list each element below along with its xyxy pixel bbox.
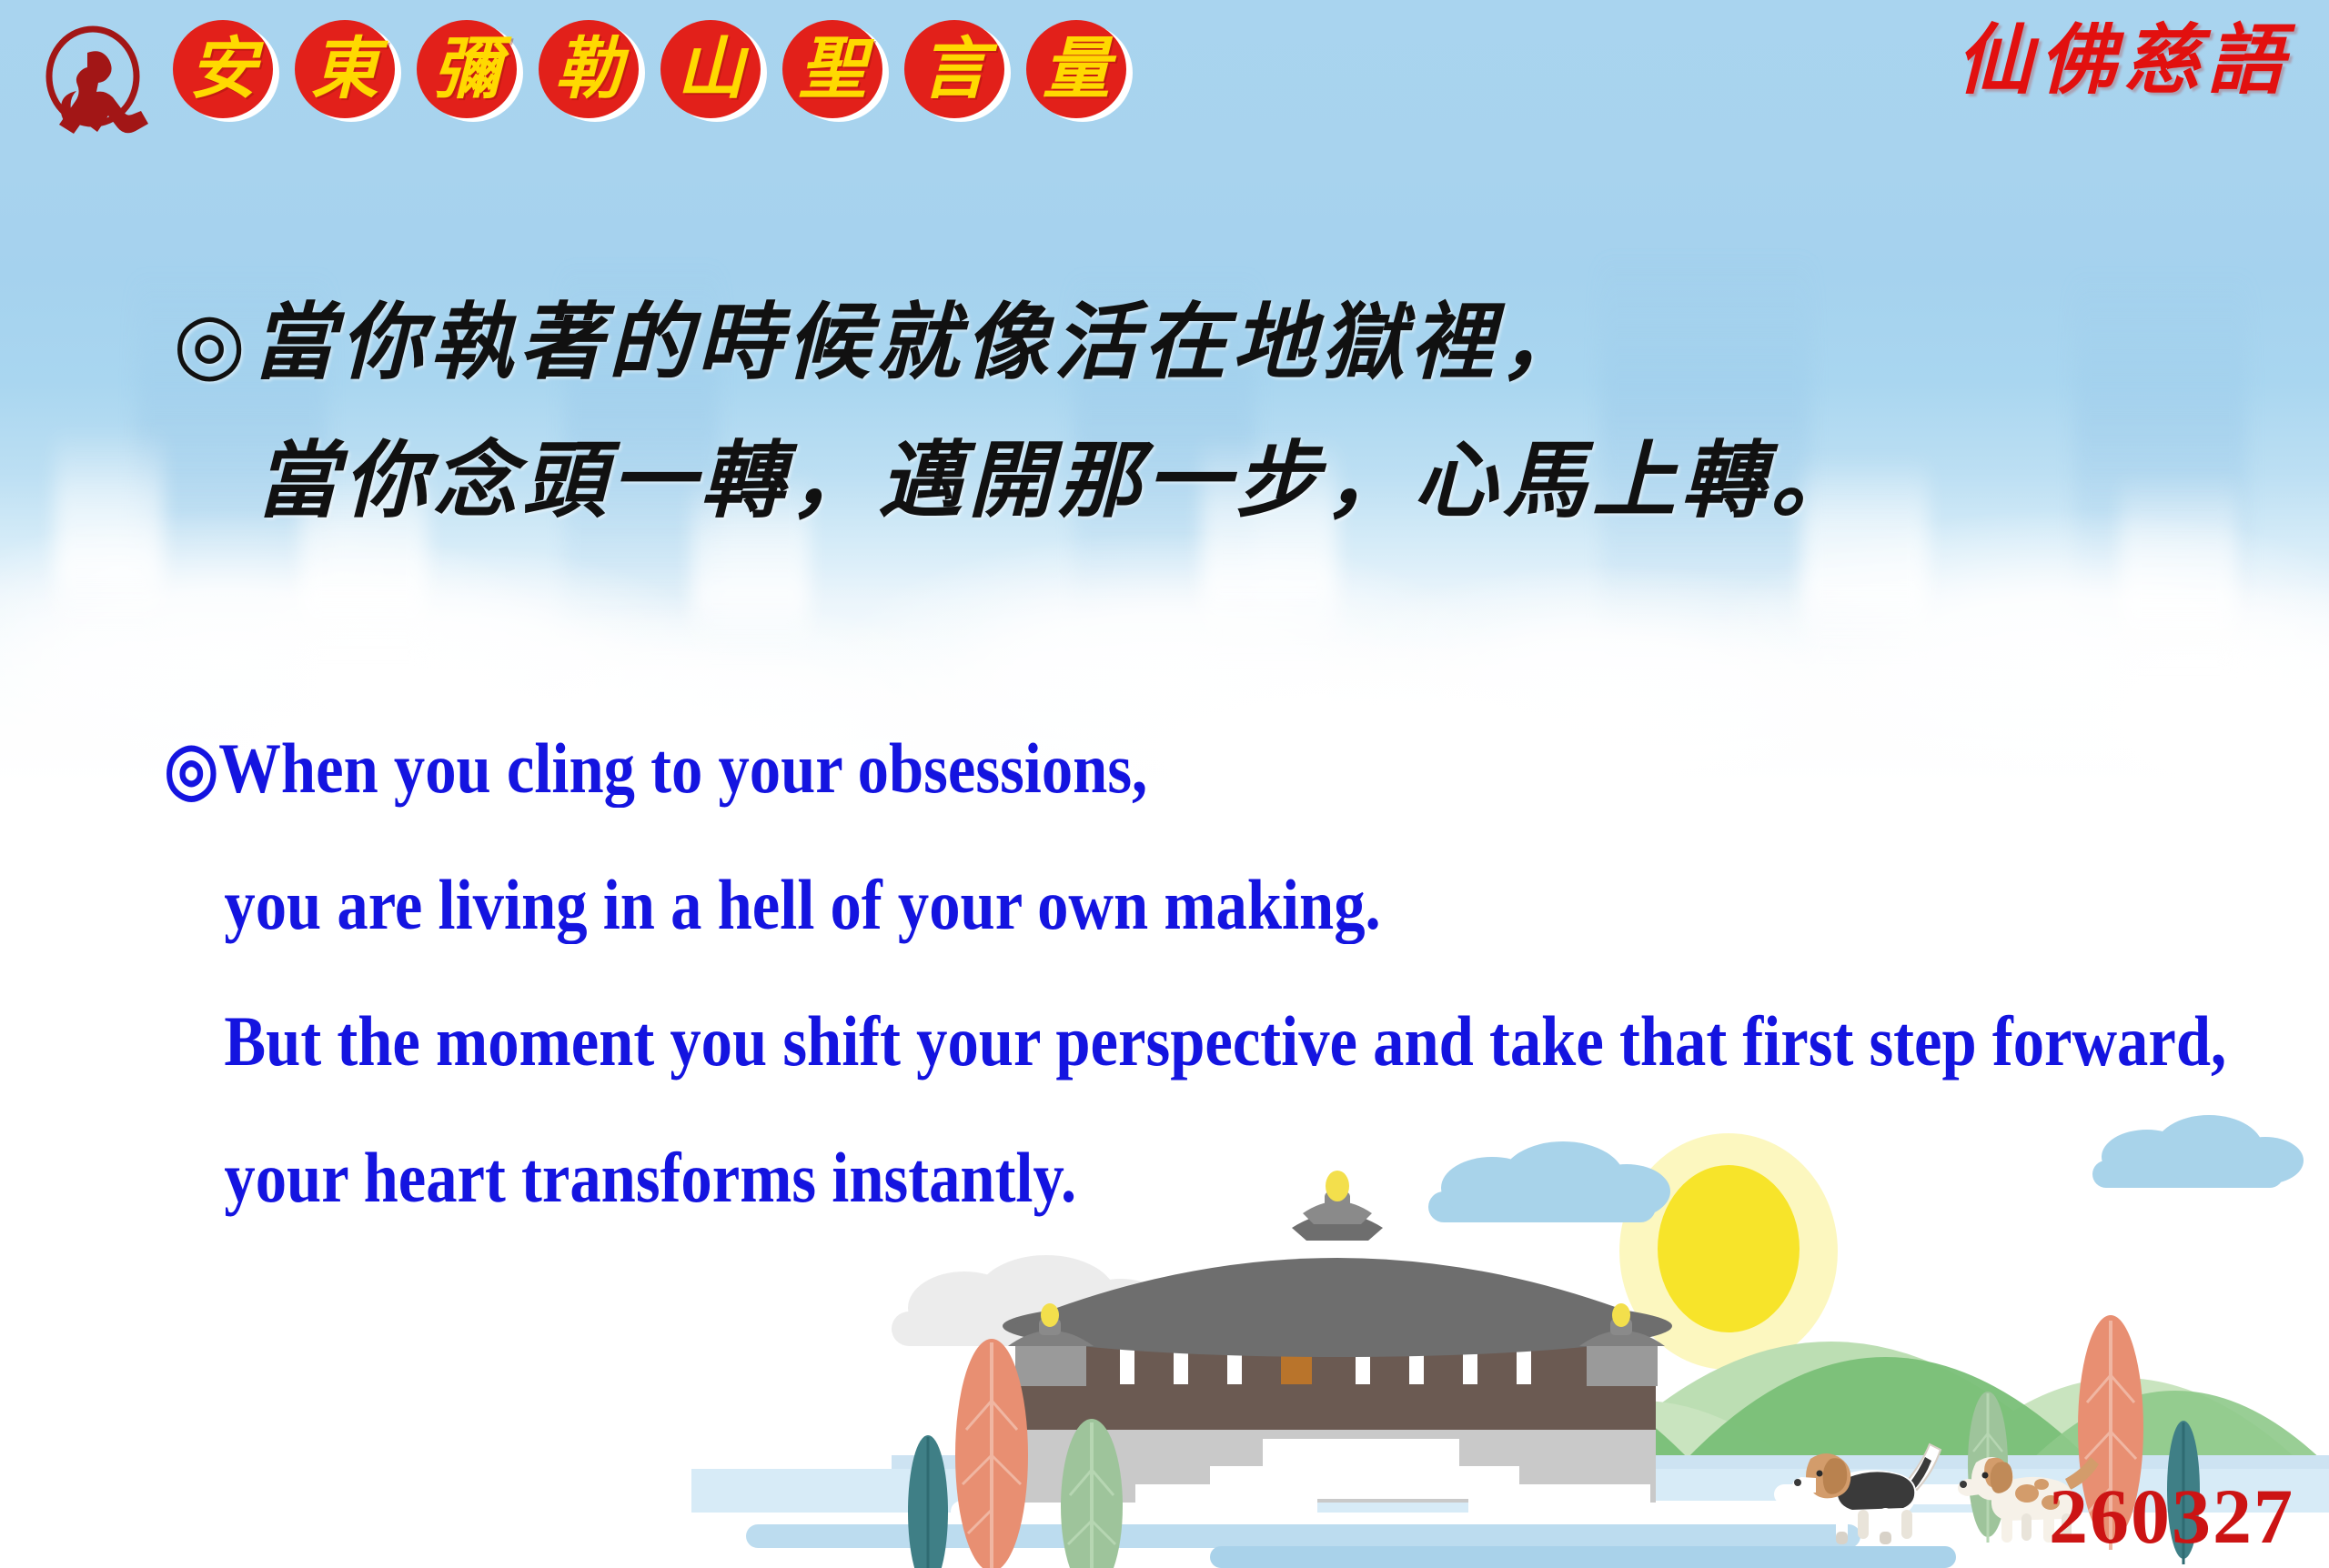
temple-name-badges: 安 東 彌 勒 山 聖 言 量 [173,20,1126,120]
badge-char-4: 勒 [539,20,639,118]
chinese-quote-block: ◎當你執著的時候就像活在地獄裡， 當你念頭一轉，邁開那一步，心馬上轉。 [0,273,2329,549]
chinese-quote-line-1: ◎當你執著的時候就像活在地獄裡， [0,273,2329,411]
english-quote-line-4: your heart transforms instantly. [0,1110,2050,1246]
badge-char-5: 山 [660,20,761,118]
badge-char-6: 聖 [782,20,882,118]
chinese-quote-line-2: 當你念頭一轉，邁開那一步，心馬上轉。 [0,411,2329,549]
corner-title: 仙佛慈語 [1956,22,2291,98]
badge-char-2: 東 [295,20,395,118]
english-quote-line-3: But the moment you shift your perspectiv… [0,973,2050,1110]
coral-tree-icon [955,1339,1028,1568]
badge-char-7: 言 [904,20,1004,118]
serial-number: 260327 [2049,1477,2294,1555]
badge-char-8: 量 [1026,20,1126,118]
english-quote-line-2: you are living in a hell of your own mak… [0,837,2050,973]
english-quote-block: ◎When you cling to your obsessions, you … [0,700,2329,1246]
teal-tree-icon [908,1435,948,1568]
maitreya-logo-icon [27,20,164,143]
poster-canvas: 安 東 彌 勒 山 聖 言 量 仙佛慈語 ◎當你執著的時候就像活在地獄裡， 當你… [0,0,2329,1568]
header-bar: 安 東 彌 勒 山 聖 言 量 仙佛慈語 [0,0,2329,136]
badge-char-3: 彌 [417,20,517,118]
english-quote-line-1: ◎When you cling to your obsessions, [0,700,2050,837]
badge-char-1: 安 [173,20,273,118]
